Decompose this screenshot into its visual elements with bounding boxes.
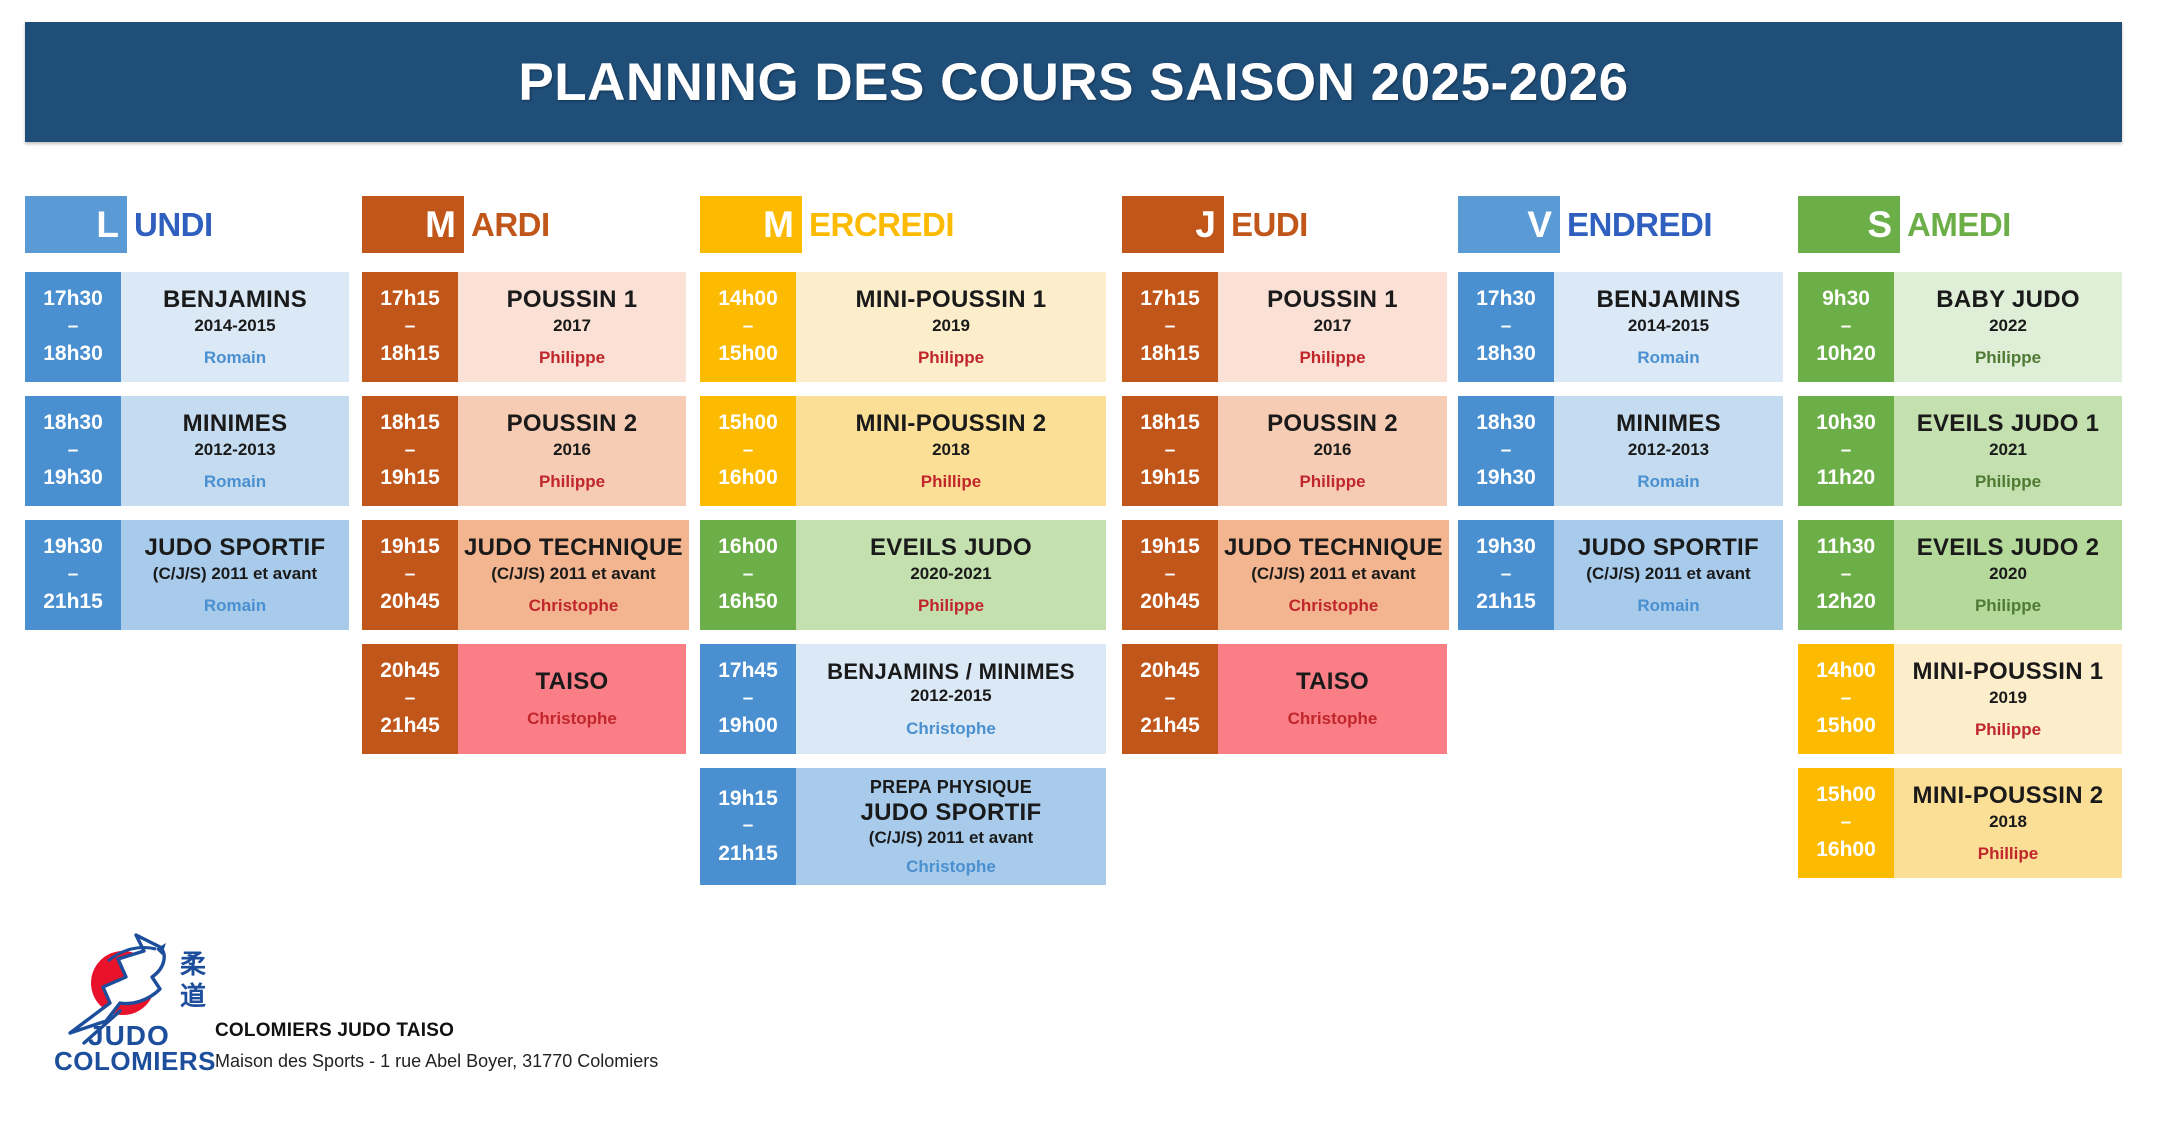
day-header-mardi: MARDI: [362, 196, 686, 253]
course-start-time: 17h15: [380, 283, 440, 316]
time-separator-dash: –: [1165, 440, 1176, 463]
course-start-time: 19h15: [380, 531, 440, 564]
course-start-time: 14h00: [718, 283, 778, 316]
course-coach: Romain: [1637, 596, 1699, 616]
course-details: EVEILS JUDO 12021Philippe: [1894, 396, 2122, 506]
course-details: BENJAMINS / MINIMES2012-2015Christophe: [796, 644, 1106, 754]
course-card[interactable]: 18h30–19h30MINIMES2012-2013Romain: [1458, 396, 1783, 506]
course-end-time: 19h00: [718, 710, 778, 743]
course-end-time: 18h15: [380, 338, 440, 371]
course-coach: Philippe: [1975, 472, 2041, 492]
course-time: 19h15–20h45: [362, 520, 458, 630]
course-coach: Phillipe: [921, 472, 981, 492]
course-start-time: 14h00: [1816, 655, 1876, 688]
course-start-time: 9h30: [1822, 283, 1870, 316]
course-details: TAISOChristophe: [458, 644, 686, 754]
course-time: 16h00–16h50: [700, 520, 796, 630]
course-coach: Philippe: [1975, 720, 2041, 740]
time-separator-dash: –: [1501, 440, 1512, 463]
day-header-samedi: SAMEDI: [1798, 196, 2122, 253]
day-name-label: AMEDI: [1900, 196, 2011, 253]
course-details: PREPA PHYSIQUEJUDO SPORTIF(C/J/S) 2011 e…: [796, 768, 1106, 885]
course-title: MINI-POUSSIN 1: [856, 286, 1047, 315]
course-time: 19h30–21h15: [25, 520, 121, 630]
course-details: POUSSIN 12017Philippe: [1218, 272, 1447, 382]
day-initial-box: M: [700, 196, 802, 253]
course-title: BENJAMINS: [1596, 286, 1740, 315]
course-title: TAISO: [535, 668, 608, 697]
day-name-label: ARDI: [464, 196, 550, 253]
time-separator-dash: –: [743, 815, 754, 838]
time-separator-dash: –: [1841, 688, 1852, 711]
course-time: 17h30–18h30: [1458, 272, 1554, 382]
course-details: MINI-POUSSIN 22018Phillipe: [796, 396, 1106, 506]
course-age-group: (C/J/S) 2011 et avant: [869, 828, 1033, 848]
course-coach: Philippe: [1975, 596, 2041, 616]
course-end-time: 11h20: [1817, 462, 1875, 495]
time-separator-dash: –: [1841, 812, 1852, 835]
course-end-time: 21h45: [380, 710, 440, 743]
svg-text:道: 道: [180, 981, 206, 1012]
course-time: 17h15–18h15: [1122, 272, 1218, 382]
course-start-time: 18h30: [43, 407, 103, 440]
course-start-time: 19h30: [1476, 531, 1536, 564]
course-start-time: 20h45: [1140, 655, 1200, 688]
course-title: EVEILS JUDO 2: [1917, 534, 2100, 563]
course-title: POUSSIN 2: [507, 410, 638, 439]
course-card[interactable]: 17h15–18h15POUSSIN 12017Philippe: [362, 272, 686, 382]
day-column-mercredi: MERCREDI14h00–15h00MINI-POUSSIN 12019Phi…: [700, 196, 1106, 899]
course-card[interactable]: 19h15–21h15PREPA PHYSIQUEJUDO SPORTIF(C/…: [700, 768, 1106, 885]
course-coach: Christophe: [906, 857, 996, 877]
club-logo: 柔 道 JUDO COLOMIERS: [48, 925, 218, 1075]
course-end-time: 21h15: [43, 586, 103, 619]
day-name-label: EUDI: [1224, 196, 1308, 253]
course-start-time: 20h45: [380, 655, 440, 688]
course-details: MINI-POUSSIN 12019Philippe: [796, 272, 1106, 382]
course-age-group: 2019: [1989, 688, 2027, 708]
day-initial-box: M: [362, 196, 464, 253]
course-time: 17h30–18h30: [25, 272, 121, 382]
course-end-time: 12h20: [1816, 586, 1876, 619]
course-time: 18h15–19h15: [1122, 396, 1218, 506]
day-initial-box: S: [1798, 196, 1900, 253]
course-coach: Philippe: [1299, 472, 1365, 492]
course-coach: Romain: [204, 348, 266, 368]
time-separator-dash: –: [1165, 316, 1176, 339]
page-title: PLANNING DES COURS SAISON 2025-2026: [518, 52, 1628, 113]
course-age-group: 2016: [1314, 440, 1352, 460]
time-separator-dash: –: [405, 564, 416, 587]
time-separator-dash: –: [1841, 440, 1852, 463]
course-end-time: 21h45: [1140, 710, 1200, 743]
course-age-group: 2016: [553, 440, 591, 460]
time-separator-dash: –: [405, 440, 416, 463]
course-coach: Philippe: [918, 348, 984, 368]
course-details: EVEILS JUDO2020-2021Philippe: [796, 520, 1106, 630]
time-separator-dash: –: [405, 316, 416, 339]
day-column-jeudi: JEUDI17h15–18h15POUSSIN 12017Philippe18h…: [1122, 196, 1447, 768]
day-header-vendredi: VENDREDI: [1458, 196, 1783, 253]
course-card[interactable]: 17h45–19h00BENJAMINS / MINIMES2012-2015C…: [700, 644, 1106, 754]
course-coach: Romain: [1637, 348, 1699, 368]
course-start-time: 19h15: [718, 783, 778, 816]
time-separator-dash: –: [405, 688, 416, 711]
course-age-group: 2014-2015: [1628, 316, 1709, 336]
course-title: MINI-POUSSIN 1: [1913, 658, 2104, 687]
course-card[interactable]: 18h30–19h30MINIMES2012-2013Romain: [25, 396, 349, 506]
course-title: EVEILS JUDO: [870, 534, 1032, 563]
course-details: JUDO SPORTIF(C/J/S) 2011 et avantRomain: [1554, 520, 1783, 630]
course-coach: Christophe: [529, 596, 619, 616]
course-age-group: 2017: [1314, 316, 1352, 336]
course-age-group: (C/J/S) 2011 et avant: [1251, 564, 1415, 584]
course-details: POUSSIN 12017Philippe: [458, 272, 686, 382]
course-start-time: 17h30: [43, 283, 103, 316]
time-separator-dash: –: [68, 440, 79, 463]
course-age-group: 2020: [1989, 564, 2027, 584]
time-separator-dash: –: [1501, 564, 1512, 587]
course-coach: Philippe: [1299, 348, 1365, 368]
course-details: MINI-POUSSIN 12019Philippe: [1894, 644, 2122, 754]
day-column-lundi: LUNDI17h30–18h30BENJAMINS2014-2015Romain…: [25, 196, 349, 644]
course-details: BABY JUDO2022Philippe: [1894, 272, 2122, 382]
course-card[interactable]: 19h15–20h45JUDO TECHNIQUE(C/J/S) 2011 et…: [1122, 520, 1447, 630]
day-name-label: UNDI: [127, 196, 213, 253]
course-time: 17h15–18h15: [362, 272, 458, 382]
course-coach: Christophe: [527, 709, 617, 729]
course-time: 18h30–19h30: [1458, 396, 1554, 506]
course-card[interactable]: 19h30–21h15JUDO SPORTIF(C/J/S) 2011 et a…: [1458, 520, 1783, 630]
day-header-mercredi: MERCREDI: [700, 196, 1106, 253]
course-time: 18h15–19h15: [362, 396, 458, 506]
course-time: 11h30–12h20: [1798, 520, 1894, 630]
course-start-time: 11h30: [1817, 531, 1875, 564]
page-title-banner: PLANNING DES COURS SAISON 2025-2026: [25, 22, 2122, 142]
course-end-time: 16h00: [1816, 834, 1876, 867]
course-age-group: 2018: [932, 440, 970, 460]
course-card[interactable]: 18h15–19h15POUSSIN 22016Philippe: [1122, 396, 1447, 506]
svg-text:COLOMIERS: COLOMIERS: [54, 1046, 216, 1075]
course-age-group: 2012-2013: [1628, 440, 1709, 460]
course-title: MINIMES: [1616, 410, 1721, 439]
course-title: MINI-POUSSIN 2: [856, 410, 1047, 439]
course-end-time: 20h45: [1140, 586, 1200, 619]
day-name-label: ENDREDI: [1560, 196, 1712, 253]
course-details: MINIMES2012-2013Romain: [121, 396, 349, 506]
course-card[interactable]: 20h45–21h45TAISOChristophe: [362, 644, 686, 754]
course-age-group: 2018: [1989, 812, 2027, 832]
course-time: 20h45–21h45: [362, 644, 458, 754]
course-title: BENJAMINS / MINIMES: [827, 659, 1075, 685]
course-coach: Philippe: [1975, 348, 2041, 368]
course-end-time: 18h30: [1476, 338, 1536, 371]
course-title: POUSSIN 2: [1267, 410, 1398, 439]
course-card[interactable]: 14h00–15h00MINI-POUSSIN 12019Philippe: [700, 272, 1106, 382]
course-time: 15h00–16h00: [1798, 768, 1894, 878]
course-age-group: 2017: [553, 316, 591, 336]
course-age-group: 2012-2013: [194, 440, 275, 460]
course-start-time: 18h15: [380, 407, 440, 440]
course-title: MINIMES: [183, 410, 288, 439]
course-end-time: 15h00: [718, 338, 778, 371]
course-time: 14h00–15h00: [700, 272, 796, 382]
course-card[interactable]: 15h00–16h00MINI-POUSSIN 22018Phillipe: [1798, 768, 2122, 878]
course-end-time: 19h30: [1476, 462, 1536, 495]
course-card[interactable]: 17h30–18h30BENJAMINS2014-2015Romain: [1458, 272, 1783, 382]
course-coach: Philippe: [918, 596, 984, 616]
course-time: 14h00–15h00: [1798, 644, 1894, 754]
club-address: Maison des Sports - 1 rue Abel Boyer, 31…: [215, 1051, 658, 1072]
time-separator-dash: –: [743, 564, 754, 587]
svg-text:柔: 柔: [180, 950, 206, 980]
course-title: MINI-POUSSIN 2: [1913, 782, 2104, 811]
course-end-time: 10h20: [1816, 338, 1876, 371]
course-details: JUDO SPORTIF(C/J/S) 2011 et avantRomain: [121, 520, 349, 630]
time-separator-dash: –: [1841, 316, 1852, 339]
course-card[interactable]: 18h15–19h15POUSSIN 22016Philippe: [362, 396, 686, 506]
course-time: 20h45–21h45: [1122, 644, 1218, 754]
day-column-vendredi: VENDREDI17h30–18h30BENJAMINS2014-2015Rom…: [1458, 196, 1783, 644]
course-title: EVEILS JUDO 1: [1917, 410, 2100, 439]
course-start-time: 17h15: [1140, 283, 1200, 316]
day-header-lundi: LUNDI: [25, 196, 349, 253]
course-card[interactable]: 19h30–21h15JUDO SPORTIF(C/J/S) 2011 et a…: [25, 520, 349, 630]
course-start-time: 16h00: [718, 531, 778, 564]
course-end-time: 19h30: [43, 462, 103, 495]
course-age-group: 2019: [932, 316, 970, 336]
course-end-time: 19h15: [380, 462, 440, 495]
course-card[interactable]: 16h00–16h50EVEILS JUDO2020-2021Philippe: [700, 520, 1106, 630]
course-end-time: 15h00: [1816, 710, 1876, 743]
course-time: 9h30–10h20: [1798, 272, 1894, 382]
course-end-time: 21h15: [718, 838, 778, 871]
course-age-group: 2022: [1989, 316, 2027, 336]
course-details: JUDO TECHNIQUE(C/J/S) 2011 et avantChris…: [1218, 520, 1449, 630]
course-title: BENJAMINS: [163, 286, 307, 315]
course-title: JUDO TECHNIQUE: [464, 534, 683, 563]
course-start-time: 17h45: [718, 655, 778, 688]
course-coach: Christophe: [906, 719, 996, 739]
course-title: TAISO: [1296, 668, 1369, 697]
course-start-time: 18h30: [1476, 407, 1536, 440]
course-card[interactable]: 17h30–18h30BENJAMINS2014-2015Romain: [25, 272, 349, 382]
course-coach: Philippe: [539, 348, 605, 368]
time-separator-dash: –: [743, 316, 754, 339]
course-end-time: 19h15: [1140, 462, 1200, 495]
course-end-time: 20h45: [380, 586, 440, 619]
course-start-time: 15h00: [1816, 779, 1876, 812]
course-card[interactable]: 11h30–12h20EVEILS JUDO 22020Philippe: [1798, 520, 2122, 630]
course-end-time: 16h50: [718, 586, 778, 619]
course-end-time: 21h15: [1476, 586, 1536, 619]
course-start-time: 10h30: [1816, 407, 1876, 440]
day-initial-box: V: [1458, 196, 1560, 253]
course-start-time: 15h00: [718, 407, 778, 440]
course-age-group: (C/J/S) 2011 et avant: [491, 564, 655, 584]
course-card[interactable]: 19h15–20h45JUDO TECHNIQUE(C/J/S) 2011 et…: [362, 520, 686, 630]
time-separator-dash: –: [743, 440, 754, 463]
course-details: BENJAMINS2014-2015Romain: [121, 272, 349, 382]
course-time: 15h00–16h00: [700, 396, 796, 506]
course-details: POUSSIN 22016Philippe: [458, 396, 686, 506]
course-end-time: 18h15: [1140, 338, 1200, 371]
course-coach: Romain: [204, 472, 266, 492]
day-initial-box: L: [25, 196, 127, 253]
course-start-time: 19h15: [1140, 531, 1200, 564]
course-details: MINI-POUSSIN 22018Phillipe: [1894, 768, 2122, 878]
course-coach: Romain: [204, 596, 266, 616]
course-card[interactable]: 14h00–15h00MINI-POUSSIN 12019Philippe: [1798, 644, 2122, 754]
course-start-time: 18h15: [1140, 407, 1200, 440]
course-details: BENJAMINS2014-2015Romain: [1554, 272, 1783, 382]
time-separator-dash: –: [68, 316, 79, 339]
course-coach: Christophe: [1289, 596, 1379, 616]
course-time: 18h30–19h30: [25, 396, 121, 506]
course-time: 19h15–20h45: [1122, 520, 1218, 630]
course-details: JUDO TECHNIQUE(C/J/S) 2011 et avantChris…: [458, 520, 689, 630]
course-start-time: 17h30: [1476, 283, 1536, 316]
course-end-time: 18h30: [43, 338, 103, 371]
course-title: JUDO SPORTIF: [1578, 534, 1759, 563]
day-header-jeudi: JEUDI: [1122, 196, 1447, 253]
club-name: COLOMIERS JUDO TAISO: [215, 1020, 658, 1042]
day-name-label: ERCREDI: [802, 196, 954, 253]
course-title: POUSSIN 1: [1267, 286, 1398, 315]
course-age-group: 2012-2015: [910, 686, 991, 706]
course-age-group: 2020-2021: [910, 564, 991, 584]
course-details: MINIMES2012-2013Romain: [1554, 396, 1783, 506]
course-card[interactable]: 20h45–21h45TAISOChristophe: [1122, 644, 1447, 754]
course-details: POUSSIN 22016Philippe: [1218, 396, 1447, 506]
course-details: EVEILS JUDO 22020Philippe: [1894, 520, 2122, 630]
day-column-samedi: SAMEDI9h30–10h20BABY JUDO2022Philippe10h…: [1798, 196, 2122, 892]
course-time: 17h45–19h00: [700, 644, 796, 754]
course-time: 19h30–21h15: [1458, 520, 1554, 630]
course-coach: Philippe: [539, 472, 605, 492]
time-separator-dash: –: [68, 564, 79, 587]
course-title: POUSSIN 1: [507, 286, 638, 315]
day-initial-box: J: [1122, 196, 1224, 253]
time-separator-dash: –: [1501, 316, 1512, 339]
course-age-group: 2021: [1989, 440, 2027, 460]
course-title: JUDO SPORTIF: [861, 799, 1042, 828]
time-separator-dash: –: [1841, 564, 1852, 587]
course-time: 19h15–21h15: [700, 768, 796, 885]
time-separator-dash: –: [1165, 688, 1176, 711]
course-prefix-label: PREPA PHYSIQUE: [870, 776, 1032, 799]
course-time: 10h30–11h20: [1798, 396, 1894, 506]
course-card[interactable]: 15h00–16h00MINI-POUSSIN 22018Phillipe: [700, 396, 1106, 506]
course-coach: Romain: [1637, 472, 1699, 492]
course-title: JUDO SPORTIF: [145, 534, 326, 563]
course-card[interactable]: 9h30–10h20BABY JUDO2022Philippe: [1798, 272, 2122, 382]
time-separator-dash: –: [1165, 564, 1176, 587]
course-age-group: 2014-2015: [194, 316, 275, 336]
day-column-mardi: MARDI17h15–18h15POUSSIN 12017Philippe18h…: [362, 196, 686, 768]
course-card[interactable]: 17h15–18h15POUSSIN 12017Philippe: [1122, 272, 1447, 382]
course-end-time: 16h00: [718, 462, 778, 495]
course-card[interactable]: 10h30–11h20EVEILS JUDO 12021Philippe: [1798, 396, 2122, 506]
course-coach: Phillipe: [1978, 844, 2038, 864]
footer-text: COLOMIERS JUDO TAISO Maison des Sports -…: [215, 1020, 658, 1072]
course-details: TAISOChristophe: [1218, 644, 1447, 754]
course-title: BABY JUDO: [1936, 286, 2080, 315]
course-coach: Christophe: [1288, 709, 1378, 729]
course-title: JUDO TECHNIQUE: [1224, 534, 1443, 563]
course-start-time: 19h30: [43, 531, 103, 564]
time-separator-dash: –: [743, 688, 754, 711]
course-age-group: (C/J/S) 2011 et avant: [1586, 564, 1750, 584]
course-age-group: (C/J/S) 2011 et avant: [153, 564, 317, 584]
